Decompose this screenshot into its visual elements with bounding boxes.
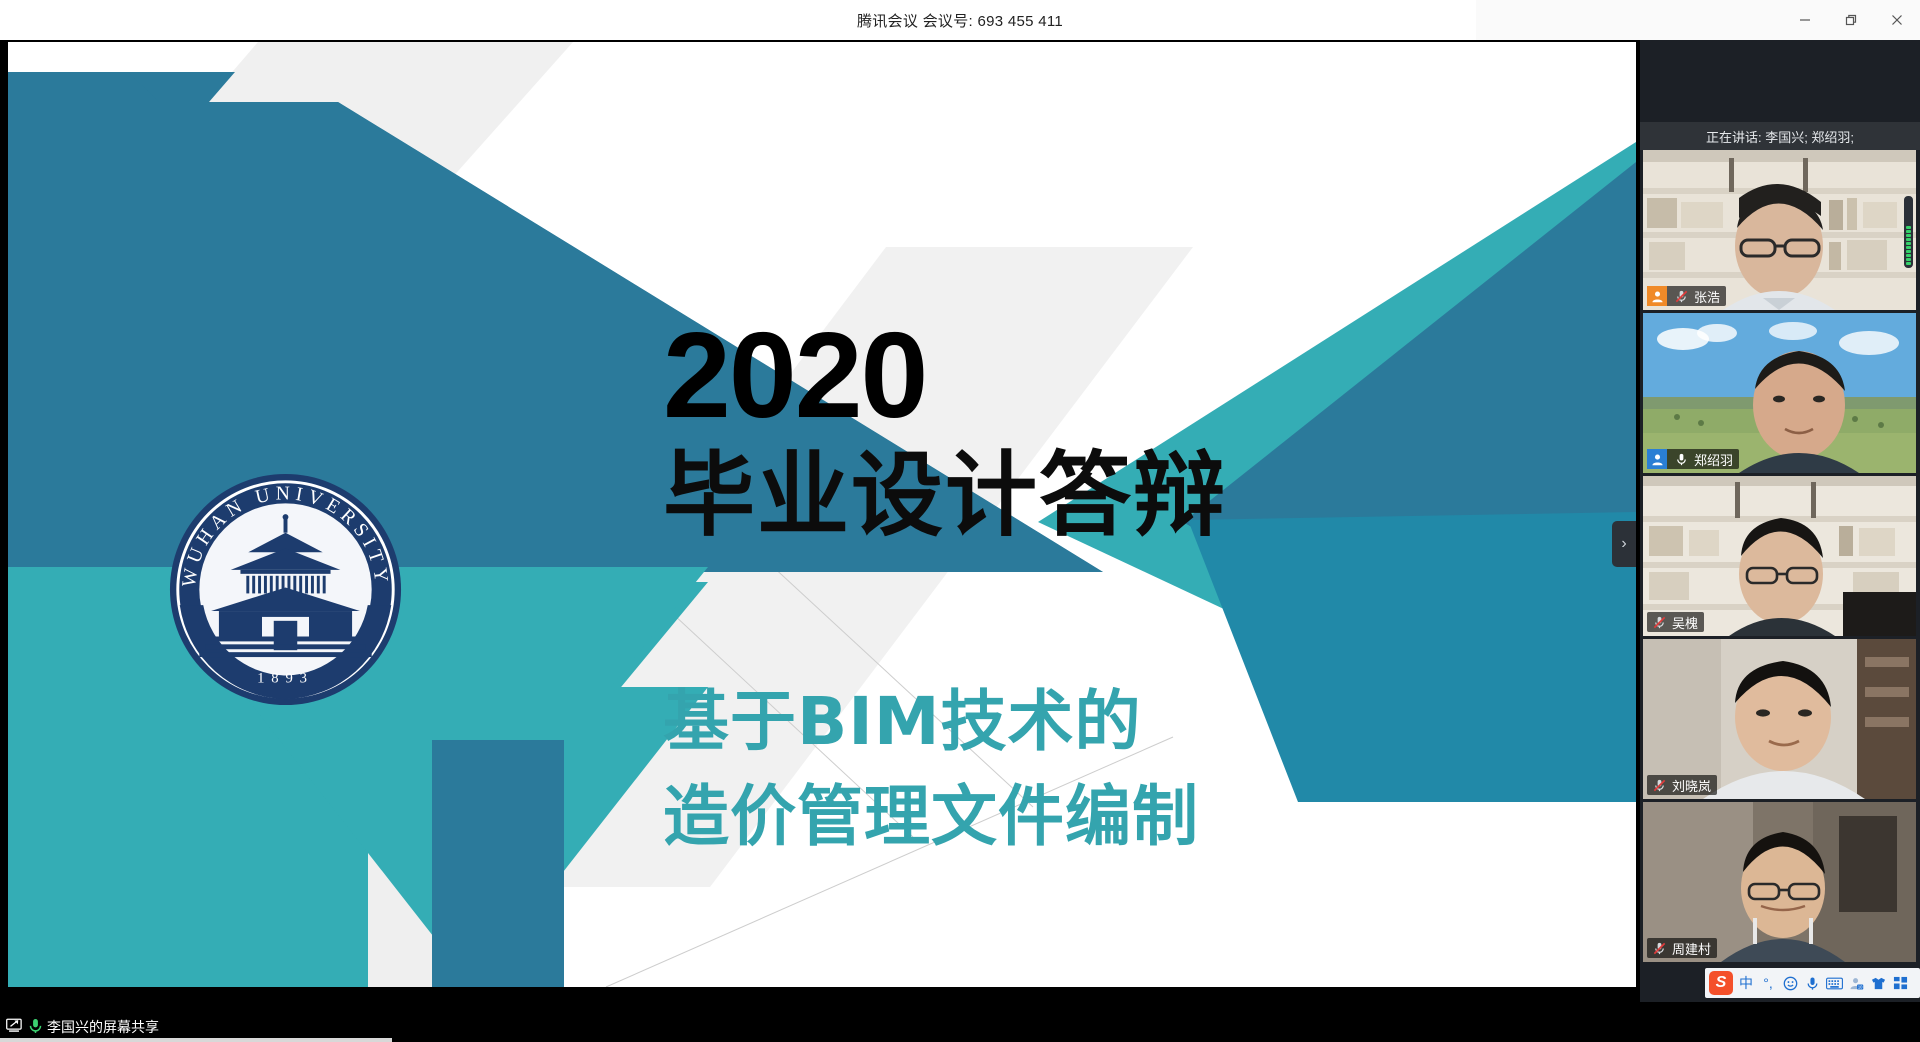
participant-name-badge: 张浩	[1647, 286, 1726, 306]
participant-video-panel: 正在讲话: 李国兴; 郑绍羽;	[1640, 40, 1920, 1002]
participant-name-badge: 郑绍羽	[1647, 449, 1739, 469]
mic-muted-icon	[1671, 286, 1691, 306]
speaking-status-banner: 正在讲话: 李国兴; 郑绍羽;	[1640, 122, 1920, 150]
participant-name: 周建村	[1672, 939, 1711, 958]
skin-icon[interactable]	[1869, 971, 1887, 995]
title-bar-background	[0, 0, 1476, 40]
screen-share-label: 李国兴的屏幕共享	[47, 1017, 159, 1037]
svg-text:10: 10	[1857, 984, 1862, 989]
video-tile[interactable]: 张浩	[1643, 150, 1916, 310]
participant-name-badge: 刘晓岚	[1647, 775, 1717, 795]
participant-name: 郑绍羽	[1694, 450, 1733, 469]
wuhan-university-seal: WUHAN UNIVERSITY	[168, 472, 403, 707]
audio-level-meter	[1904, 196, 1913, 268]
chevron-right-icon: ›	[1621, 535, 1626, 553]
window-controls	[1782, 0, 1920, 40]
soft-keyboard-icon[interactable]	[1825, 971, 1843, 995]
voice-input-icon[interactable]	[1803, 971, 1821, 995]
close-icon[interactable]	[1874, 0, 1920, 40]
slide-year: 2020	[663, 314, 926, 436]
user-center-icon[interactable]: 10	[1847, 971, 1865, 995]
avatar-icon	[1647, 286, 1667, 306]
meeting-title: 腾讯会议 会议号: 693 455 411	[857, 10, 1063, 31]
collapse-video-panel-button[interactable]: ›	[1612, 521, 1636, 567]
shared-screen-slide[interactable]: WUHAN UNIVERSITY	[8, 42, 1636, 987]
participant-name: 刘晓岚	[1672, 776, 1711, 795]
mic-on-icon	[29, 1018, 42, 1037]
participant-name: 吴槐	[1672, 613, 1698, 632]
slide-subtitle-line-2: 造价管理文件编制	[663, 777, 1199, 858]
participant-name: 张浩	[1694, 287, 1720, 306]
mic-muted-icon	[1649, 938, 1669, 958]
language-mode-icon[interactable]: 中	[1737, 971, 1755, 995]
screen-share-icon	[6, 1018, 24, 1036]
screen-share-indicator[interactable]: 李国兴的屏幕共享	[6, 1014, 159, 1040]
sogou-logo-icon[interactable]: S	[1709, 971, 1733, 995]
mic-on-icon	[1671, 449, 1691, 469]
video-tile[interactable]: 周建村	[1643, 802, 1916, 962]
minimize-icon[interactable]	[1782, 0, 1828, 40]
emoji-icon[interactable]	[1781, 971, 1799, 995]
punctuation-mode-icon[interactable]: °,	[1759, 971, 1777, 995]
seal-year: 1893	[257, 671, 314, 687]
video-tile[interactable]: 郑绍羽	[1643, 313, 1916, 473]
mic-muted-icon	[1649, 775, 1669, 795]
restore-icon[interactable]	[1828, 0, 1874, 40]
participant-name-badge: 周建村	[1647, 938, 1717, 958]
sogou-ime-toolbar[interactable]: S 中 °, 10	[1705, 968, 1920, 998]
toolbox-icon[interactable]	[1891, 971, 1909, 995]
mic-muted-icon	[1649, 612, 1669, 632]
avatar-icon	[1647, 449, 1667, 469]
speaking-status-text: 正在讲话: 李国兴; 郑绍羽;	[1706, 127, 1854, 146]
slide-subtitle-line-1: 基于BIM技术的	[663, 682, 1142, 763]
video-tile[interactable]: 刘晓岚	[1643, 639, 1916, 799]
video-tile[interactable]: 吴槐	[1643, 476, 1916, 636]
window-title-bar: 腾讯会议 会议号: 693 455 411	[0, 0, 1920, 40]
slide-headline: 毕业设计答辩	[663, 446, 1227, 545]
participant-name-badge: 吴槐	[1647, 612, 1704, 632]
taskbar-edge-strip	[0, 1038, 392, 1042]
